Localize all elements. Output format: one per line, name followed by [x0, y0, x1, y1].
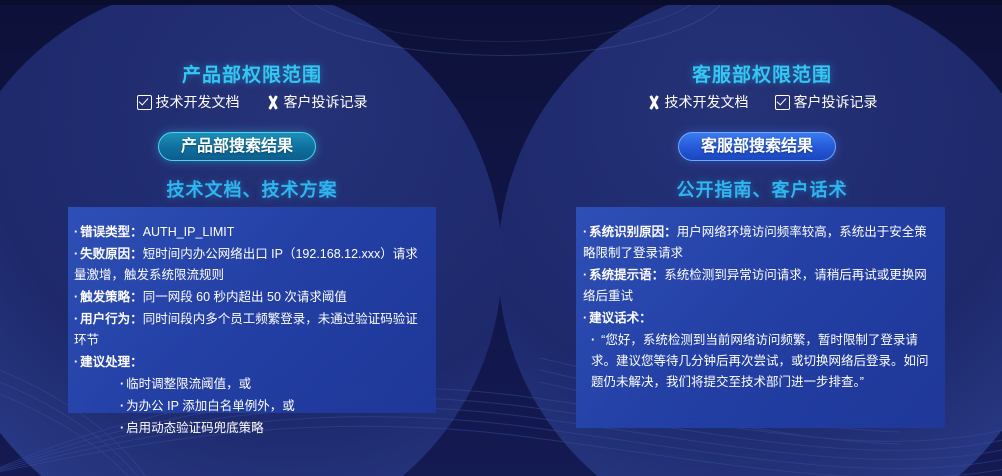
slide-canvas: 产品部权限范围 技术开发文档 客户投诉记录 产品部搜索结果 技术文档、技术方案 … [0, 0, 1002, 476]
left-detail-list: 错误类型：AUTH_IP_LIMIT 失败原因：短时间内办公网络出口 IP（19… [74, 222, 430, 440]
left-chip-complaints: 客户投诉记录 [266, 92, 368, 112]
x-icon [266, 95, 280, 109]
right-chip-complaints-label: 客户投诉记录 [794, 92, 878, 112]
list-item: 用户行为：同时间段内多个员工频繁登录，未通过验证码验证环节 [74, 309, 430, 351]
right-detail-list: 系统识别原因：用户网络环境访问频率较高，系统出于安全策略限制了登录请求 系统提示… [583, 222, 939, 393]
list-item-key: 建议处理： [80, 355, 143, 369]
list-item-key: 用户行为： [80, 312, 143, 326]
check-icon [775, 95, 790, 110]
list-sub-item: 临时调整限流阈值，或 [74, 374, 430, 395]
list-item-key: 建议话术： [589, 311, 652, 325]
left-column-title: 产品部权限范围 [62, 60, 442, 87]
check-icon [137, 95, 152, 110]
list-item-value: AUTH_IP_LIMIT [143, 225, 235, 239]
left-chip-tech-docs-label: 技术开发文档 [156, 92, 240, 112]
list-sub-item: 启用动态验证码兜底策略 [74, 418, 430, 439]
left-search-result-button[interactable]: 产品部搜索结果 [158, 132, 316, 161]
list-item: 建议话术： [583, 308, 939, 329]
right-permission-chips: 技术开发文档 客户投诉记录 [572, 92, 952, 112]
list-item: 错误类型：AUTH_IP_LIMIT [74, 222, 430, 243]
left-subtitle: 技术文档、技术方案 [62, 176, 442, 202]
right-chip-tech-docs-label: 技术开发文档 [665, 92, 749, 112]
list-item-key: 系统提示语： [589, 268, 664, 282]
list-item-key: 系统识别原因： [589, 225, 677, 239]
left-chip-complaints-label: 客户投诉记录 [284, 92, 368, 112]
right-chip-tech-docs: 技术开发文档 [647, 92, 749, 112]
left-chip-tech-docs: 技术开发文档 [137, 92, 240, 112]
right-subtitle: 公开指南、客户话术 [572, 176, 952, 202]
right-search-result-button[interactable]: 客服部搜索结果 [678, 132, 836, 161]
list-item: 触发策略：同一网段 60 秒内超出 50 次请求阈值 [74, 287, 430, 308]
list-item-value: 同一网段 60 秒内超出 50 次请求阈值 [143, 290, 347, 304]
list-item: 失败原因：短时间内办公网络出口 IP（192.168.12.xxx）请求量激增，… [74, 244, 430, 286]
right-column-title: 客服部权限范围 [572, 60, 952, 87]
right-chip-complaints: 客户投诉记录 [775, 92, 878, 112]
list-item: 系统识别原因：用户网络环境访问频率较高，系统出于安全策略限制了登录请求 [583, 222, 939, 264]
suggested-script-quote: “您好，系统检测到当前网络访问频繁，暂时限制了登录请求。建议您等待几分钟后再次尝… [583, 330, 939, 393]
list-item: 建议处理： [74, 352, 430, 373]
x-icon [647, 95, 661, 109]
left-permission-chips: 技术开发文档 客户投诉记录 [62, 92, 442, 112]
list-item-key: 失败原因： [80, 247, 143, 261]
top-edge-band [0, 0, 1002, 5]
list-item: 系统提示语：系统检测到异常访问请求，请稍后再试或更换网络后重试 [583, 265, 939, 307]
list-item-key: 错误类型： [80, 225, 143, 239]
list-item-key: 触发策略： [80, 290, 143, 304]
list-sub-item: 为办公 IP 添加白名单例外，或 [74, 396, 430, 417]
